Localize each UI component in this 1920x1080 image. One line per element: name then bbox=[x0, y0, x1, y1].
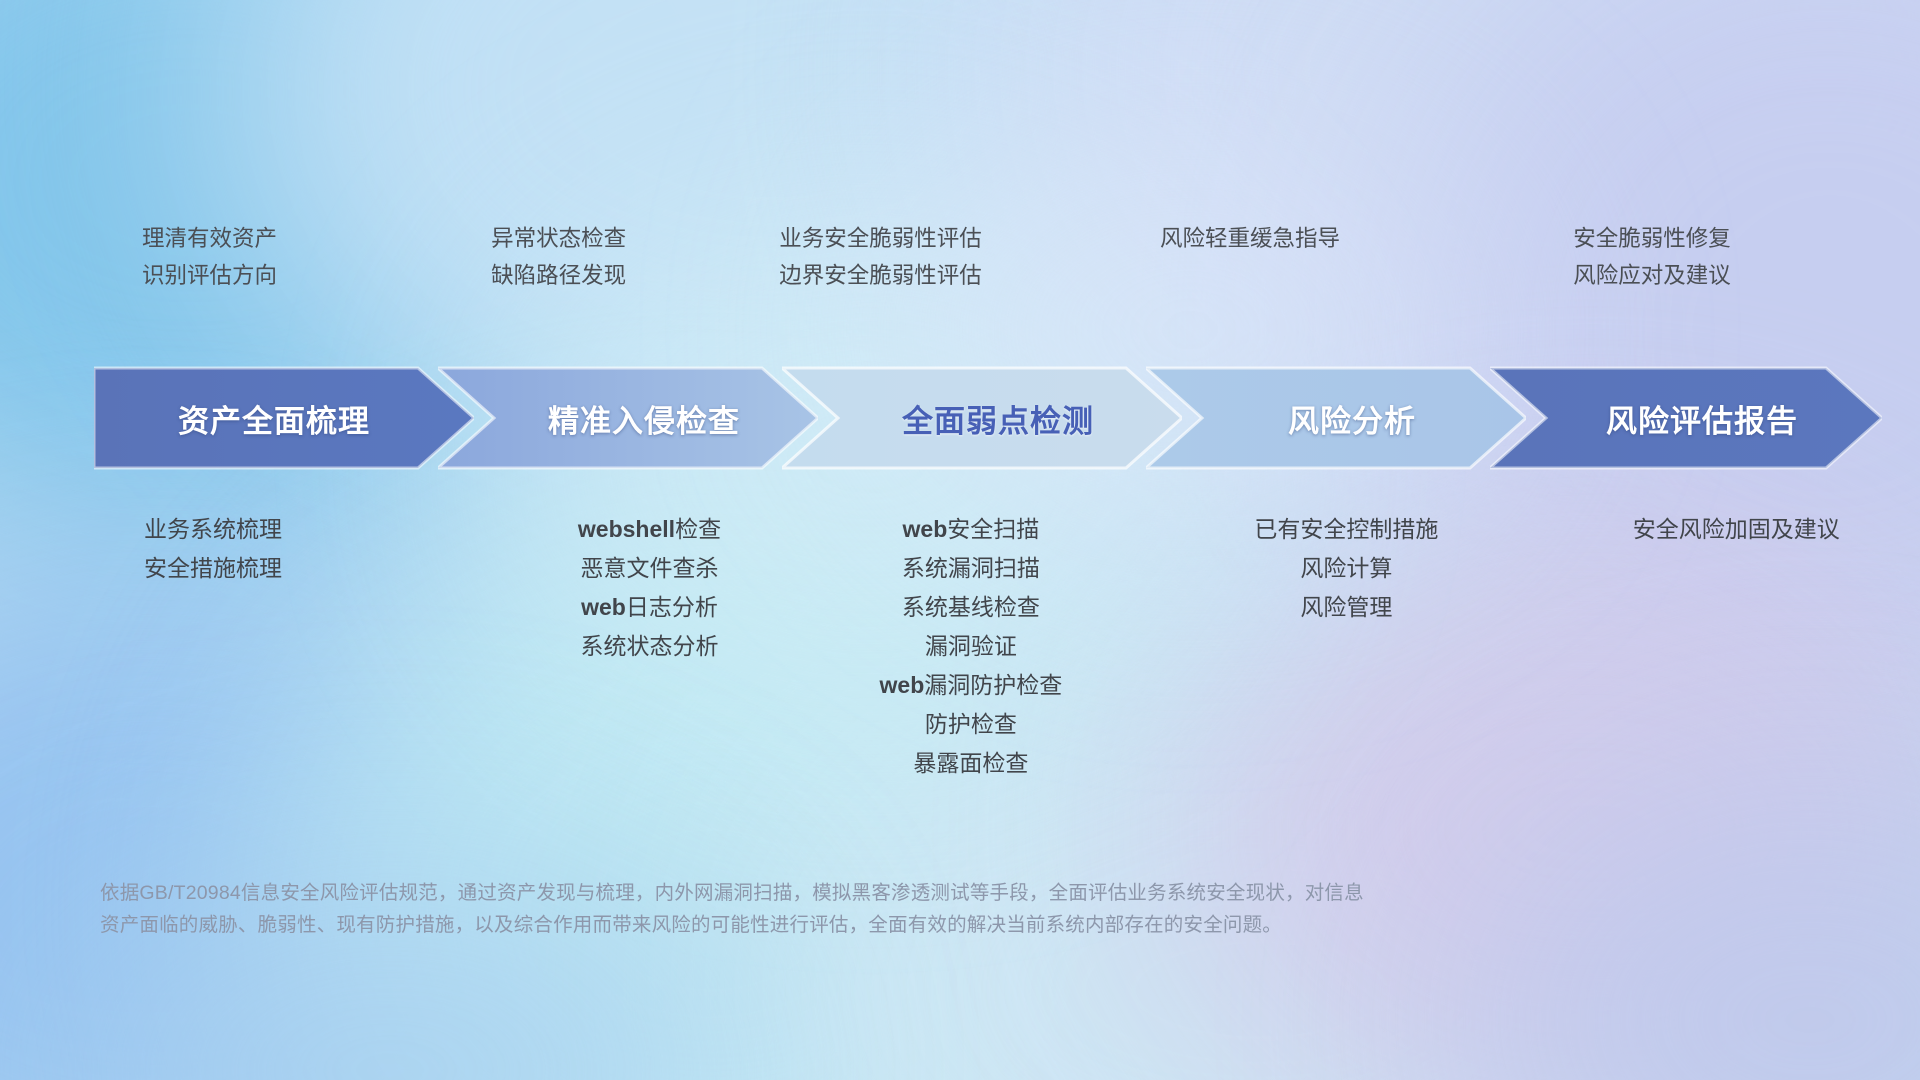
stage-chevron-label: 风险分析 bbox=[1288, 396, 1416, 441]
process-chevron-band: 资产全面梳理 精准入侵检查 bbox=[94, 364, 1844, 472]
bottom-annotation-item: 系统状态分析 bbox=[502, 635, 798, 658]
bottom-annotation-item: 系统漏洞扫描 bbox=[805, 557, 1136, 580]
bottom-annotation-item: web漏洞防护检查 bbox=[805, 674, 1136, 697]
bottom-annotation-prefix: web bbox=[880, 672, 925, 698]
bottom-annotation-item: 暴露面检查 bbox=[805, 752, 1136, 775]
bottom-annotation-item: web安全扫描 bbox=[805, 518, 1136, 541]
top-annotation-item: 风险轻重缓急指导 bbox=[1160, 228, 1465, 251]
bottom-annotation-item: 风险管理 bbox=[1176, 596, 1516, 619]
stage-chevron-5[interactable]: 风险评估报告 bbox=[1490, 364, 1882, 472]
bottom-annotation-text: 检查 bbox=[675, 516, 721, 542]
bottom-annotation-text: 漏洞防护检查 bbox=[924, 672, 1062, 698]
stage-chevron-2[interactable]: 精准入侵检查 bbox=[438, 364, 818, 472]
bottom-annotation-item: 风险计算 bbox=[1176, 557, 1516, 580]
bottom-annotation-text: 安全扫描 bbox=[947, 516, 1039, 542]
bottom-annotation-item: 已有安全控制措施 bbox=[1176, 518, 1516, 541]
bottom-annotations-stage-1: 业务系统梳理 安全措施梳理 bbox=[0, 518, 468, 775]
stage-chevron-label: 资产全面梳理 bbox=[178, 396, 370, 441]
stage-chevron-1[interactable]: 资产全面梳理 bbox=[94, 364, 474, 472]
top-annotations-stage-2: 异常状态检查 缺陷路径发现 bbox=[447, 228, 751, 287]
bottom-annotation-item: 系统基线检查 bbox=[805, 596, 1136, 619]
bottom-annotations-row: 业务系统梳理 安全措施梳理 webshell检查 恶意文件查杀 web日志分析 … bbox=[0, 518, 1920, 775]
top-annotation-item: 异常状态检查 bbox=[491, 228, 751, 251]
bottom-annotation-item: 安全风险加固及建议 bbox=[1552, 518, 1920, 541]
top-annotations-stage-5: 安全脆弱性修复 风险应对及建议 bbox=[1465, 228, 1920, 287]
stage-chevron-3[interactable]: 全面弱点检测 bbox=[782, 364, 1182, 472]
diagram-canvas: 理清有效资产 识别评估方向 异常状态检查 缺陷路径发现 业务安全脆弱性评估 边界… bbox=[0, 0, 1920, 1080]
stage-chevron-4[interactable]: 风险分析 bbox=[1146, 364, 1526, 472]
top-annotation-item: 边界安全脆弱性评估 bbox=[779, 265, 1074, 288]
top-annotations-stage-3: 业务安全脆弱性评估 边界安全脆弱性评估 bbox=[751, 228, 1074, 287]
bottom-annotations-stage-5: 安全风险加固及建议 bbox=[1516, 518, 1920, 775]
bottom-annotation-item: 安全措施梳理 bbox=[144, 557, 468, 580]
bottom-annotation-text: 日志分析 bbox=[626, 594, 718, 620]
bottom-annotations-stage-4: 已有安全控制措施 风险计算 风险管理 bbox=[1136, 518, 1516, 775]
bottom-annotations-stage-3: web安全扫描 系统漏洞扫描 系统基线检查 漏洞验证 web漏洞防护检查 防护检… bbox=[797, 518, 1136, 775]
bottom-annotation-item: web日志分析 bbox=[502, 596, 798, 619]
top-annotation-item: 安全脆弱性修复 bbox=[1573, 228, 1920, 251]
top-annotation-item: 业务安全脆弱性评估 bbox=[779, 228, 1074, 251]
bottom-annotation-prefix: web bbox=[581, 594, 626, 620]
top-annotations-stage-4: 风险轻重缓急指导 bbox=[1074, 228, 1465, 287]
stage-chevron-label: 全面弱点检测 bbox=[902, 396, 1094, 441]
bottom-annotations-stage-2: webshell检查 恶意文件查杀 web日志分析 系统状态分析 bbox=[468, 518, 798, 775]
top-annotations-row: 理清有效资产 识别评估方向 异常状态检查 缺陷路径发现 业务安全脆弱性评估 边界… bbox=[0, 228, 1920, 287]
top-annotation-item: 识别评估方向 bbox=[142, 265, 447, 288]
footer-description: 依据GB/T20984信息安全风险评估规范，通过资产发现与梳理，内外网漏洞扫描，… bbox=[100, 878, 1630, 941]
bottom-annotation-item: webshell检查 bbox=[502, 518, 798, 541]
top-annotation-item: 缺陷路径发现 bbox=[491, 265, 751, 288]
footer-line-1: 依据GB/T20984信息安全风险评估规范，通过资产发现与梳理，内外网漏洞扫描，… bbox=[100, 878, 1630, 910]
bottom-annotation-item: 业务系统梳理 bbox=[144, 518, 468, 541]
bottom-annotation-prefix: webshell bbox=[578, 516, 675, 542]
bottom-annotation-item: 防护检查 bbox=[805, 713, 1136, 736]
top-annotation-item: 理清有效资产 bbox=[142, 228, 447, 251]
bottom-annotation-item: 恶意文件查杀 bbox=[502, 557, 798, 580]
top-annotation-item: 风险应对及建议 bbox=[1573, 265, 1920, 288]
bottom-annotation-item: 漏洞验证 bbox=[805, 635, 1136, 658]
stage-chevron-label: 精准入侵检查 bbox=[548, 396, 740, 441]
bottom-annotation-prefix: web bbox=[903, 516, 948, 542]
top-annotations-stage-1: 理清有效资产 识别评估方向 bbox=[0, 228, 447, 287]
stage-chevron-label: 风险评估报告 bbox=[1606, 396, 1798, 441]
footer-line-2: 资产面临的威胁、脆弱性、现有防护措施，以及综合作用而带来风险的可能性进行评估，全… bbox=[100, 910, 1630, 942]
